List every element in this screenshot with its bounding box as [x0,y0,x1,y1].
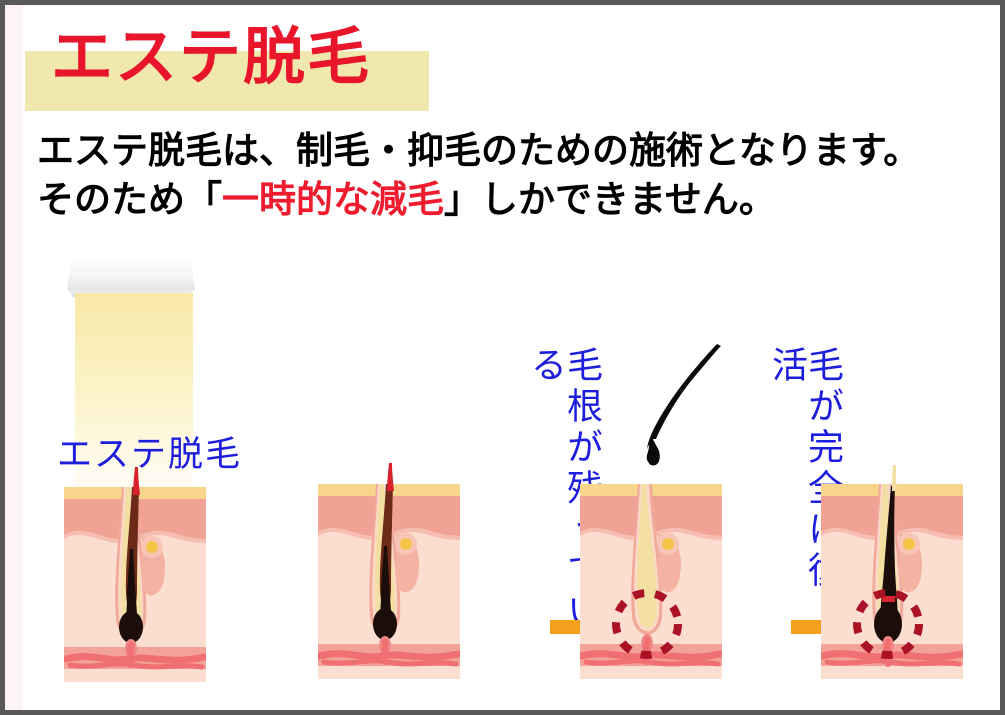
infographic-canvas: エステ脱毛 エステ脱毛は、制毛・抑毛のための施術となります。 そのため「一時的な… [0,0,1005,715]
laser-device-icon [67,255,195,297]
page-title-block: エステ脱毛 [25,21,455,103]
detached-hair-icon [613,343,723,468]
hair-shaft-above-skin-2 [318,463,460,491]
skin-cross-section-3 [580,484,722,679]
hair-shaft-above-skin-1 [64,467,206,495]
intro-line-2-prefix: そのため「 [37,179,222,220]
hair-shaft-above-skin-4 [821,463,963,491]
intro-line-2-highlight: 一時的な減毛 [222,179,444,220]
skin-cross-section-4 [821,484,963,679]
page-title: エステ脱毛 [51,27,371,89]
intro-line-2: そのため「一時的な減毛」しかできません。 [37,176,997,225]
intro-line-2-suffix: 」しかできません。 [444,179,776,220]
skin-cross-section-1 [64,487,206,682]
left-margin-strip [5,5,23,710]
laser-device-body [67,255,195,291]
skin-cross-section-2 [318,484,460,679]
intro-paragraph: エステ脱毛は、制毛・抑毛のための施術となります。 そのため「一時的な減毛」しかで… [37,127,997,225]
intro-line-1: エステ脱毛は、制毛・抑毛のための施術となります。 [37,127,997,176]
